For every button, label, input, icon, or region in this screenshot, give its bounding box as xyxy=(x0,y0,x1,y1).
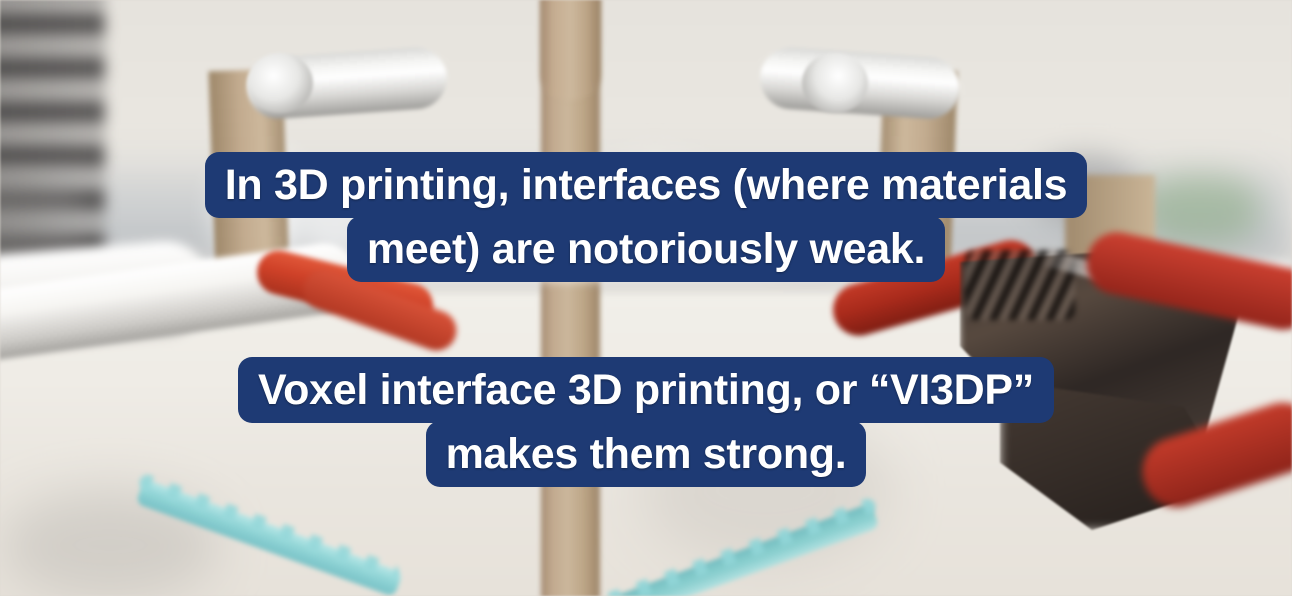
caption-line: meet) are notoriously weak. xyxy=(347,216,945,282)
caption-line: makes them strong. xyxy=(426,421,867,487)
caption-block-primary: In 3D printing, interfaces (where materi… xyxy=(0,152,1292,282)
caption-line: Voxel interface 3D printing, or “VI3DP” xyxy=(238,357,1054,423)
metal-rod-right-end-cap xyxy=(802,53,868,113)
wooden-post-tip xyxy=(541,0,600,100)
metal-rod-left-end-cap xyxy=(247,53,313,113)
scene-background xyxy=(0,0,1292,596)
caption-line: In 3D printing, interfaces (where materi… xyxy=(205,152,1088,218)
video-frame: In 3D printing, interfaces (where materi… xyxy=(0,0,1292,596)
caption-block-secondary: Voxel interface 3D printing, or “VI3DP” … xyxy=(0,357,1292,487)
